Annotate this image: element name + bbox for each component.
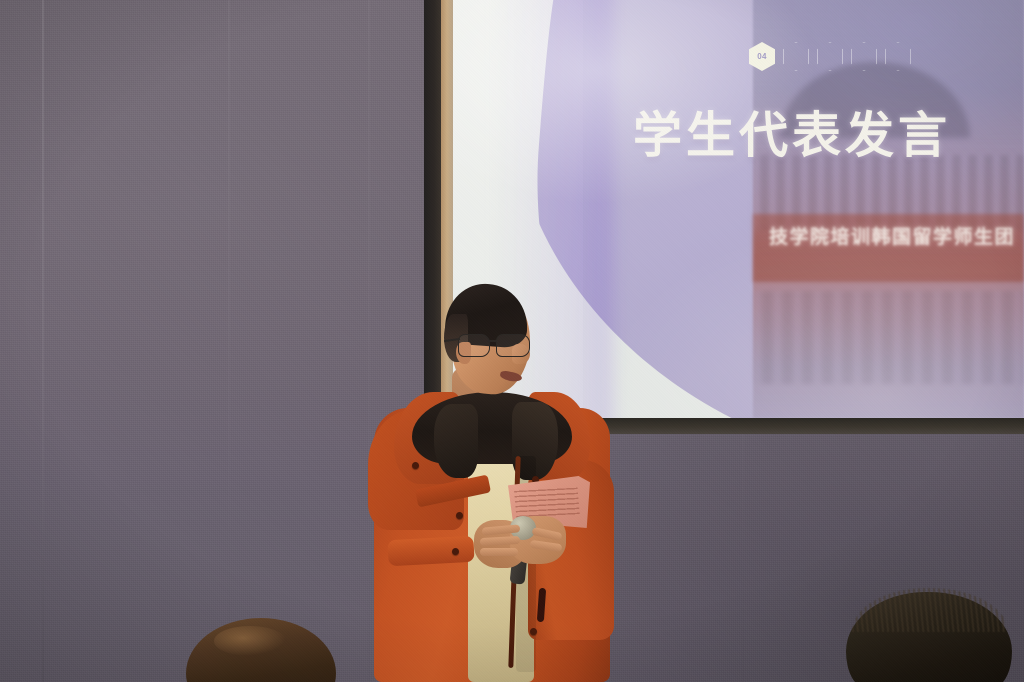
eyeglass-lens-left [458,334,490,357]
hexagon-outline-icon [851,42,877,71]
hexagon-outline-icon [783,42,809,71]
slide-subtitle: 技学院培训韩国留学师生团 [769,222,1024,249]
slide-title: 学生代表发言 [633,112,1024,161]
wall-panel-seam [42,0,44,682]
wall-panel-seam [228,0,230,682]
jacket-button [456,512,463,519]
hexagon-outline-icon [817,42,843,71]
audience-head-left-highlight [214,626,286,656]
speaker-figure [360,280,660,682]
eyeglass-bridge [488,340,497,342]
eyeglass-lens-right [496,334,530,357]
hexagon-section-marker: 04 [749,42,775,71]
speech-notes-text-lines [514,486,580,520]
jacket-button [530,628,537,635]
fleece-collar-left [434,404,478,478]
speaker-finger [480,548,518,556]
jacket-left-cuff [387,536,474,566]
jacket-button [452,548,459,555]
eyeglasses-icon [456,334,532,358]
slide-hexagon-row: 04 [749,42,911,71]
hexagon-outline-icon [885,42,911,71]
presentation-scene: 04 学生代表发言 技学院培训韩国留学师生团 [0,0,1024,682]
jacket-button [412,462,419,469]
